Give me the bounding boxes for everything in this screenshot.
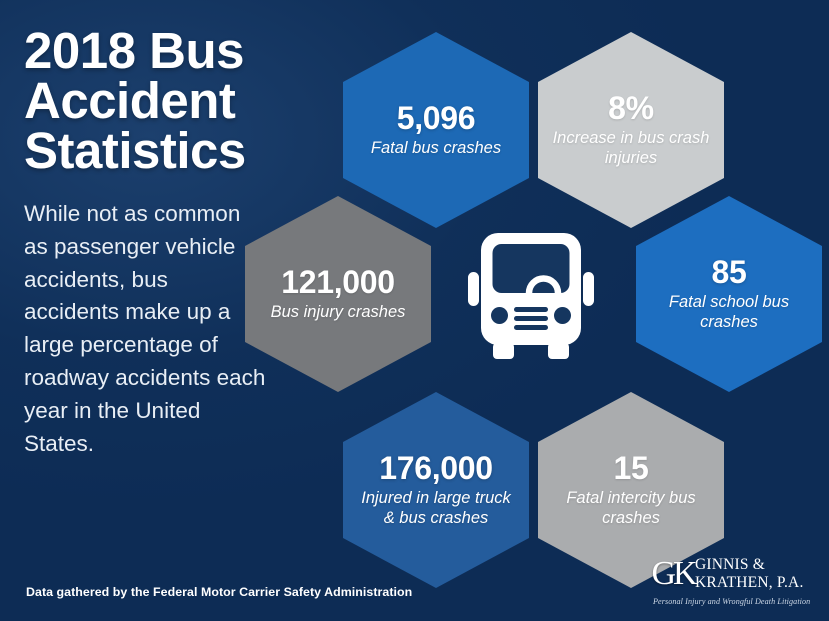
company-logo[interactable]: GK GINNIS & KRATHEN, P.A. Personal Injur…	[651, 551, 821, 609]
logo-firm-name-line-1: GINNIS &	[695, 557, 804, 573]
intro-column: 2018 Bus Accident Statistics While not a…	[24, 26, 324, 461]
stat-value: 176,000	[379, 452, 493, 484]
stat-hex-fatal-bus-crashes: 5,096Fatal bus crashes	[343, 32, 529, 228]
bus-icon	[456, 217, 606, 367]
stat-label: Fatal bus crashes	[371, 139, 501, 158]
stat-value: 85	[712, 256, 747, 288]
intro-paragraph: While not as common as passenger vehicle…	[24, 198, 269, 461]
stat-hex-injured-in-large-truck-and-bus-crashes: 176,000Injured in large truck & bus cras…	[343, 392, 529, 588]
stat-label: Fatal school bus crashes	[648, 293, 810, 332]
stat-hex-fatal-school-bus-crashes: 85Fatal school bus crashes	[636, 196, 822, 392]
page-title: 2018 Bus Accident Statistics	[24, 26, 324, 176]
page-title-line-2: Accident	[24, 76, 324, 126]
page-title-line-3: Statistics	[24, 126, 324, 176]
stat-value: 15	[614, 452, 649, 484]
logo-tagline: Personal Injury and Wrongful Death Litig…	[653, 597, 810, 606]
stat-value: 8%	[608, 92, 654, 124]
gk-monogram-icon: GK	[651, 555, 695, 593]
logo-row: GK GINNIS & KRATHEN, P.A.	[651, 555, 804, 593]
stat-hex-increase-in-bus-crash-injuries: 8%Increase in bus crash injuries	[538, 32, 724, 228]
data-source-note: Data gathered by the Federal Motor Carri…	[26, 585, 412, 599]
stat-label: Increase in bus crash injuries	[550, 129, 712, 168]
stat-label: Fatal intercity bus crashes	[550, 489, 712, 528]
logo-firm-name-line-2: KRATHEN, P.A.	[695, 575, 804, 591]
stat-value: 5,096	[397, 102, 476, 134]
page-title-line-1: 2018 Bus	[24, 26, 324, 76]
infographic-canvas: 2018 Bus Accident Statistics While not a…	[0, 0, 829, 621]
logo-firm-name: GINNIS & KRATHEN, P.A.	[695, 557, 804, 590]
stat-label: Injured in large truck & bus crashes	[355, 489, 517, 528]
